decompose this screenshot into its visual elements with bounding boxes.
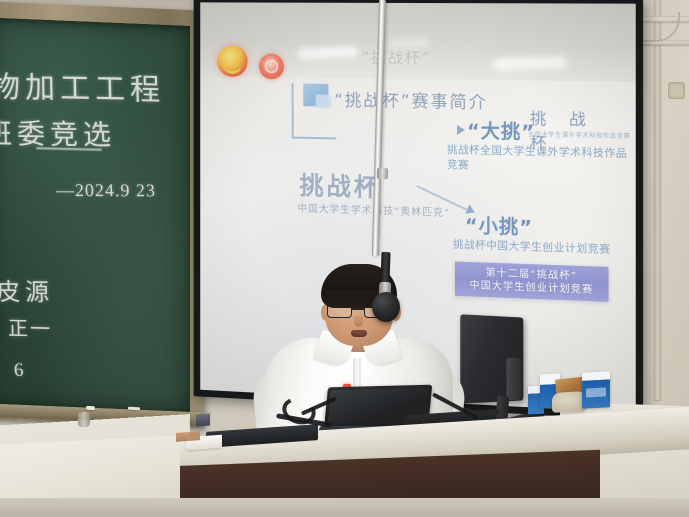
chalk-piece[interactable] [86,406,95,410]
slide-main-term: 挑战杯 [299,166,381,204]
chalk-piece[interactable] [128,407,140,411]
desk-cup[interactable] [78,412,90,428]
microphone-gooseneck [380,252,390,284]
projected-top-title: “挑战杯” [362,47,432,69]
monitor-hinge [506,358,521,400]
connector-line-vertical [292,83,293,136]
classroom-photo: 物加工工程 班委竞选 —2024.9 23 皮源 正一 6 “挑战杯” “挑战杯… [0,0,689,517]
wall-outlet[interactable] [668,82,685,99]
desk-small-device[interactable] [196,414,210,427]
chalk-tally: 正一 [8,312,52,342]
slide-branch-small-label: “小挑” [465,211,533,240]
slide-decor-block [303,84,328,107]
slide-heading: “挑战杯”赛事简介 [334,86,488,113]
red-emblem-icon [259,54,284,80]
mouth [351,330,367,337]
foreground-shadow [0,498,689,517]
desk-cloth-bag[interactable] [552,391,586,413]
slide-branch-small-description: 挑战杯中国大学生创业计划竞赛 [453,236,611,256]
desk-box-blue-wide[interactable] [582,371,610,408]
slide-banner: 第十二届“挑战杯” 中国大学生创业计划竞赛 [455,262,609,302]
chalk-line-4: 皮源 [0,272,55,307]
microphone-windscreen-icon [372,292,400,322]
desk-folder[interactable] [176,431,200,442]
microphone-stand-joint[interactable] [377,168,388,179]
chalk-line-1: 物加工工程 [0,62,165,109]
arrow-head-top-icon [457,125,465,135]
chalk-date: —2024.9 23 [56,180,157,201]
slide-branch-big-description: 挑战杯全国大学生课外学术科技作品竞赛 [447,142,634,177]
wall-conduit-vertical [654,0,661,400]
connector-line-top [292,137,337,139]
youth-league-emblem-icon [217,45,247,77]
slide-branch-big-label: “大挑” [467,116,535,145]
glasses-bridge [352,308,364,310]
chalk-number: 6 [13,360,29,382]
